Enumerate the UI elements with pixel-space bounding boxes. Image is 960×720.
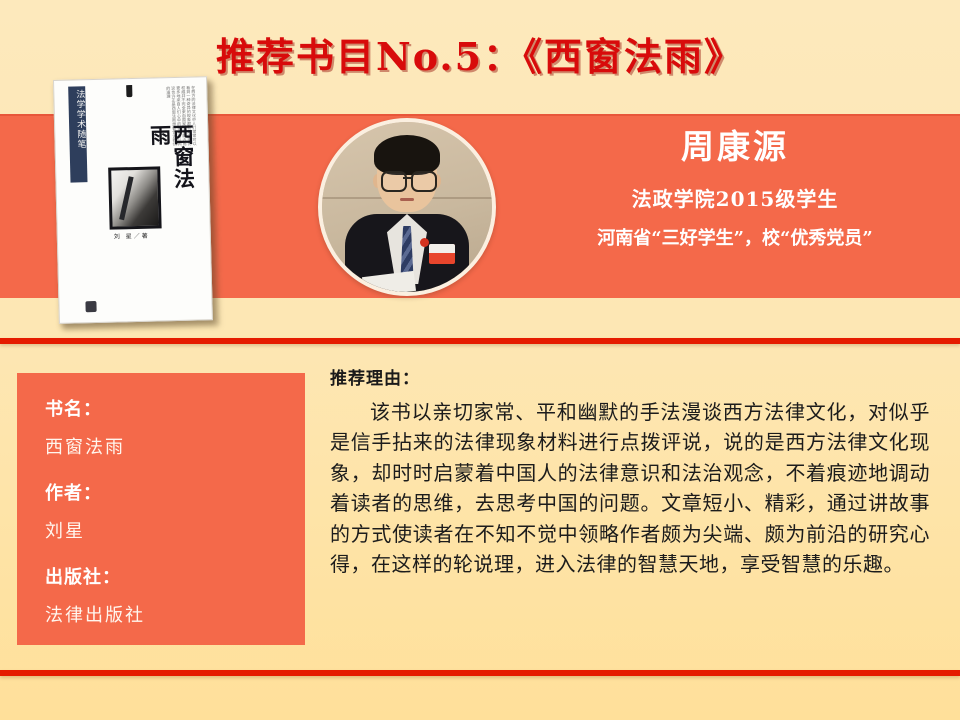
slide-root: 推荐书目No.5：《西窗法雨》 法学学术随笔 在西方的法律文化中人们常常可以看到… bbox=[0, 0, 960, 720]
speaker-honor: 河南省“三好学生”，校“优秀党员” bbox=[520, 224, 950, 250]
avatar-mouth bbox=[400, 198, 414, 201]
avatar-glasses-bridge-icon bbox=[403, 177, 411, 179]
speaker-avatar bbox=[318, 118, 496, 296]
speaker-name: 周康源 bbox=[520, 126, 950, 167]
avatar-glasses-left-icon bbox=[381, 171, 407, 192]
publisher-logo-icon bbox=[85, 301, 96, 312]
speaker-role: 法政学院2015级学生 bbox=[520, 183, 950, 212]
book-author-value: 刘星 bbox=[45, 517, 305, 543]
avatar-name-badge-top bbox=[429, 244, 455, 253]
page-title-text: 推荐书目No.5：《西窗法雨》 bbox=[216, 34, 744, 79]
book-author-credit: 刘 星／著 bbox=[114, 231, 150, 241]
book-info-box: 书名： 西窗法雨 作者： 刘星 出版社： 法律出版社 bbox=[17, 373, 305, 645]
book-series-band: 法学学术随笔 bbox=[68, 86, 87, 182]
avatar-glasses-right-icon bbox=[411, 171, 437, 192]
book-cover: 法学学术随笔 在西方的法律文化中人们常常可以看到一种奇异的现象那就是法律的权威并… bbox=[53, 76, 219, 328]
book-series-label: 法学学术随笔 bbox=[68, 89, 86, 149]
book-publisher-value: 法律出版社 bbox=[45, 601, 305, 627]
recommendation-body: 该书以亲切家常、平和幽默的手法漫谈西方法律文化，对似乎是信手拈来的法律现象材料进… bbox=[330, 397, 930, 579]
avatar-hair bbox=[374, 135, 440, 175]
book-cover-photo bbox=[108, 166, 161, 229]
divider-bottom bbox=[0, 670, 960, 676]
recommendation-label: 推荐理由： bbox=[330, 364, 930, 389]
divider-top bbox=[0, 338, 960, 344]
recommendation-section: 推荐理由： 该书以亲切家常、平和幽默的手法漫谈西方法律文化，对似乎是信手拈来的法… bbox=[330, 364, 930, 579]
speaker-info: 周康源 法政学院2015级学生 河南省“三好学生”，校“优秀党员” bbox=[520, 126, 950, 250]
book-author-label: 作者： bbox=[45, 479, 305, 505]
avatar-lapel-pin-icon bbox=[420, 238, 429, 247]
book-cover-face: 法学学术随笔 在西方的法律文化中人们常常可以看到一种奇异的现象那就是法律的权威并… bbox=[53, 76, 213, 324]
page-title: 推荐书目No.5：《西窗法雨》 bbox=[0, 26, 960, 81]
book-name-value: 西窗法雨 bbox=[45, 433, 305, 459]
book-publisher-label: 出版社： bbox=[45, 563, 305, 589]
book-name-label: 书名： bbox=[45, 395, 305, 421]
